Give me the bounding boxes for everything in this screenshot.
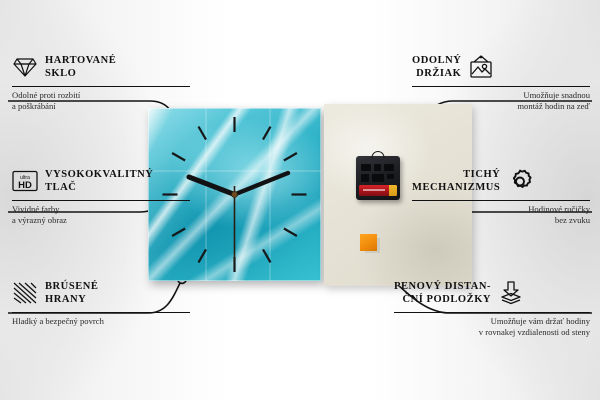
mech-slot-2	[374, 164, 381, 171]
feature-title: VYSOKOKVALITNÝ TLAČ	[45, 168, 153, 195]
infographic-canvas: HARTOVANÉ SKLO Odolné proti rozbití a po…	[0, 0, 600, 400]
tick-8	[172, 229, 185, 237]
mech-slot-3	[384, 164, 394, 171]
gear-icon	[507, 168, 533, 194]
feature-description: Hodinové ručičky bez zvuku	[412, 204, 590, 227]
feature-title: TICHÝ MECHANIZMUS	[412, 168, 500, 195]
desc-line-2: v rovnakej vzdialenosti od steny	[479, 327, 590, 337]
feature-divider	[12, 86, 190, 87]
feature-title: HARTOVANÉ SKLO	[45, 54, 116, 81]
tick-10	[172, 153, 185, 161]
download-stack-icon	[498, 280, 524, 306]
desc-line-1: Umožňuje vám držať hodiny	[491, 316, 590, 326]
title-line-2: MECHANIZMUS	[412, 182, 500, 193]
feature-header: ODOLNÝ DRŽIAK	[412, 52, 590, 82]
title-line-1: BRÚSENÉ	[45, 281, 98, 292]
hanging-hook	[372, 151, 385, 159]
desc-line-1: Odolné proti rozbití	[12, 90, 80, 100]
feature-divider	[12, 200, 190, 201]
feature-divider	[394, 312, 590, 313]
ultra-hd-icon: ultra HD	[12, 168, 38, 194]
feature-hartovane-sklo: HARTOVANÉ SKLO Odolné proti rozbití a po…	[12, 52, 190, 113]
title-line-2: HRANY	[45, 294, 86, 305]
feature-header: HARTOVANÉ SKLO	[12, 52, 190, 82]
title-line-1: TICHÝ	[463, 169, 500, 180]
feature-divider	[412, 200, 590, 201]
title-line-2: ČNÍ PODLOŽKY	[402, 294, 491, 305]
feature-header: ultra HD VYSOKOKVALITNÝ TLAČ	[12, 166, 190, 196]
title-line-1: ODOLNÝ	[412, 55, 461, 66]
desc-line-2: bez zvuku	[555, 215, 590, 225]
tick-11	[199, 127, 207, 140]
mech-slot-1	[361, 164, 371, 171]
feature-header: TICHÝ MECHANIZMUS	[412, 166, 590, 196]
feature-title: BRÚSENÉ HRANY	[45, 280, 98, 307]
hour-hand	[189, 177, 235, 195]
aa-battery	[359, 185, 397, 196]
mech-slot-4	[361, 174, 369, 182]
battery-label-stripe	[363, 189, 385, 191]
desc-line-1: Umožňuje snadnou	[523, 90, 590, 100]
picture-frame-icon	[468, 54, 494, 80]
feature-title: PENOVÝ DISTAN- ČNÍ PODLOŽKY	[394, 280, 491, 307]
desc-line-1: Hladký a bezpečný povrch	[12, 316, 104, 326]
feature-odolny-drziak: ODOLNÝ DRŽIAK Umožňuje snadnou montáž ho…	[412, 52, 590, 113]
feature-vysokokvalitny-tlac: ultra HD VYSOKOKVALITNÝ TLAČ Vividné far…	[12, 166, 190, 227]
hand-center-cap	[232, 192, 238, 198]
tick-4	[284, 229, 297, 237]
desc-line-1: Hodinové ručičky	[528, 204, 590, 214]
diamond-icon	[12, 54, 38, 80]
feature-description: Hladký a bezpečný povrch	[12, 316, 190, 328]
desc-line-2: a poškrábání	[12, 101, 56, 111]
title-line-2: SKLO	[45, 68, 76, 79]
tick-7	[199, 249, 207, 262]
feature-header: BRÚSENÉ HRANY	[12, 278, 190, 308]
battery-positive-terminal	[389, 185, 397, 196]
feature-description: Umožňuje vám držať hodiny v rovnakej vzd…	[394, 316, 590, 339]
desc-line-2: montáž hodin na zeď	[517, 101, 590, 111]
clock-mechanism	[356, 156, 400, 200]
feature-penove-podlozky: PENOVÝ DISTAN- ČNÍ PODLOŽKY Umožňuje vám…	[394, 278, 590, 339]
feature-header: PENOVÝ DISTAN- ČNÍ PODLOŽKY	[394, 278, 590, 308]
feature-brusene-hrany: BRÚSENÉ HRANY Hladký a bezpečný povrch	[12, 278, 190, 327]
title-line-2: TLAČ	[45, 182, 76, 193]
title-line-1: PENOVÝ DISTAN-	[394, 281, 491, 292]
title-line-1: HARTOVANÉ	[45, 55, 116, 66]
mech-slot-6	[387, 174, 394, 179]
title-line-1: VYSOKOKVALITNÝ	[45, 169, 153, 180]
feature-description: Umožňuje snadnou montáž hodin na zeď	[412, 90, 590, 113]
title-line-2: DRŽIAK	[416, 68, 461, 79]
feature-tichy-mechanizmus: TICHÝ MECHANIZMUS Hodinové ručičky bez z…	[412, 166, 590, 227]
mech-slot-5	[372, 174, 384, 182]
feature-divider	[12, 312, 190, 313]
foam-spacer-pad	[360, 234, 377, 251]
desc-line-1: Vividné farby	[12, 204, 59, 214]
feature-description: Odolné proti rozbití a poškrábání	[12, 90, 190, 113]
desc-line-2: a výrazný obraz	[12, 215, 67, 225]
feature-description: Vividné farby a výrazný obraz	[12, 204, 190, 227]
feature-divider	[412, 86, 590, 87]
minute-hand	[235, 173, 289, 195]
tick-5	[263, 249, 271, 262]
feature-title: ODOLNÝ DRŽIAK	[412, 54, 461, 81]
svg-text:HD: HD	[18, 180, 32, 191]
hatch-lines-icon	[12, 280, 38, 306]
tick-1	[263, 127, 271, 140]
tick-2	[284, 153, 297, 161]
